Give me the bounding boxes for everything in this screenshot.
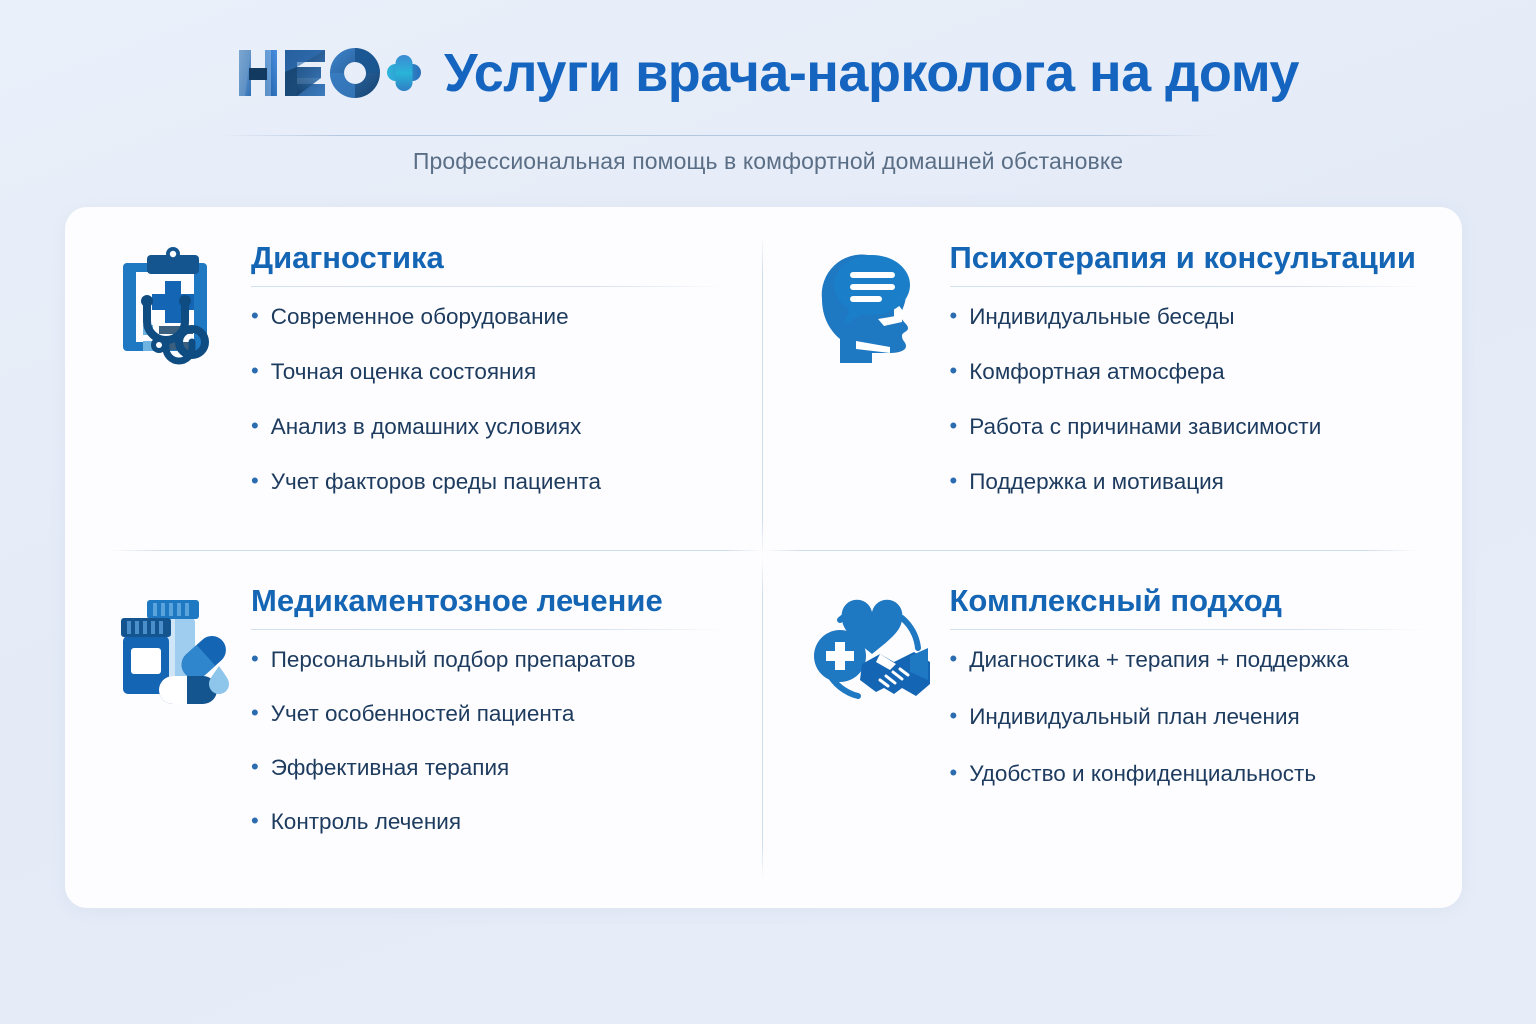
card-bullet-list: •Современное оборудование •Точная оценка… <box>251 303 730 497</box>
card-title-divider <box>251 286 730 287</box>
list-item: •Диагностика + терапия + поддержка <box>950 646 1429 674</box>
page-subtitle: Профессиональная помощь в комфортной дом… <box>0 148 1536 175</box>
list-item: •Учет особенностей пациента <box>251 700 730 728</box>
bullet-dot-icon: • <box>251 305 259 327</box>
card-title-divider <box>251 629 730 630</box>
card-body: Медикаментозное лечение •Персональный по… <box>251 580 730 863</box>
list-item-label: Диагностика + терапия + поддержка <box>969 646 1349 674</box>
card-title: Диагностика <box>251 241 730 275</box>
page-title: Услуги врача-нарколога на дому <box>444 46 1299 100</box>
card-bullet-list: •Диагностика + терапия + поддержка •Инди… <box>950 646 1429 788</box>
list-item: •Комфортная атмосфера <box>950 358 1429 386</box>
title-divider <box>218 135 1218 136</box>
list-item: •Анализ в домашних условиях <box>251 413 730 441</box>
bullet-dot-icon: • <box>251 702 259 724</box>
list-item-label: Анализ в домашних условиях <box>271 413 582 441</box>
service-card-medication[interactable]: Медикаментозное лечение •Персональный по… <box>65 558 764 909</box>
head-speech-bubble-icon <box>806 241 938 373</box>
card-body: Психотерапия и консультации •Индивидуаль… <box>950 237 1429 524</box>
list-item-label: Удобство и конфиденциальность <box>969 760 1316 788</box>
services-grid: Диагностика •Современное оборудование •Т… <box>65 207 1462 908</box>
list-item-label: Работа с причинами зависимости <box>969 413 1321 441</box>
card-body: Диагностика •Современное оборудование •Т… <box>251 237 730 524</box>
list-item-label: Учет особенностей пациента <box>271 700 575 728</box>
bullet-dot-icon: • <box>950 415 958 437</box>
service-card-psychotherapy[interactable]: Психотерапия и консультации •Индивидуаль… <box>764 207 1463 558</box>
card-body: Комплексный подход •Диагностика + терапи… <box>950 580 1429 817</box>
list-item: •Индивидуальные беседы <box>950 303 1429 331</box>
list-item: •Эффективная терапия <box>251 754 730 782</box>
pills-bottles-icon <box>107 584 239 716</box>
list-item-label: Современное оборудование <box>271 303 569 331</box>
list-item-label: Учет факторов среды пациента <box>271 468 601 496</box>
list-item-label: Точная оценка состояния <box>271 358 537 386</box>
list-item-label: Индивидуальный план лечения <box>969 703 1300 731</box>
list-item: •Удобство и конфиденциальность <box>950 760 1429 788</box>
bullet-dot-icon: • <box>950 705 958 727</box>
bullet-dot-icon: • <box>251 360 259 382</box>
bullet-dot-icon: • <box>251 648 259 670</box>
bullet-dot-icon: • <box>950 305 958 327</box>
bullet-dot-icon: • <box>950 648 958 670</box>
page-header: Услуги врача-нарколога на дому Профессио… <box>0 0 1536 200</box>
list-item-label: Индивидуальные беседы <box>969 303 1234 331</box>
heart-handshake-icon <box>806 584 938 716</box>
list-item: •Точная оценка состояния <box>251 358 730 386</box>
list-item: •Работа с причинами зависимости <box>950 413 1429 441</box>
list-item: •Индивидуальный план лечения <box>950 703 1429 731</box>
bullet-dot-icon: • <box>251 470 259 492</box>
list-item: •Поддержка и мотивация <box>950 468 1429 496</box>
list-item: •Контроль лечения <box>251 808 730 836</box>
list-item: •Современное оборудование <box>251 303 730 331</box>
card-title: Комплексный подход <box>950 584 1429 618</box>
list-item-label: Поддержка и мотивация <box>969 468 1224 496</box>
list-item: •Персональный подбор препаратов <box>251 646 730 674</box>
card-bullet-list: •Индивидуальные беседы •Комфортная атмос… <box>950 303 1429 497</box>
bullet-dot-icon: • <box>251 810 259 832</box>
card-title-divider <box>950 629 1429 630</box>
card-bullet-list: •Персональный подбор препаратов •Учет ос… <box>251 646 730 837</box>
services-panel: Диагностика •Современное оборудование •Т… <box>65 207 1462 908</box>
service-card-diagnostics[interactable]: Диагностика •Современное оборудование •Т… <box>65 207 764 558</box>
card-title-divider <box>950 286 1429 287</box>
list-item: •Учет факторов среды пациента <box>251 468 730 496</box>
card-title: Психотерапия и консультации <box>950 241 1429 275</box>
bullet-dot-icon: • <box>950 762 958 784</box>
bullet-dot-icon: • <box>950 360 958 382</box>
brand-row: Услуги врача-нарколога на дому <box>0 42 1536 104</box>
list-item-label: Комфортная атмосфера <box>969 358 1224 386</box>
list-item-label: Персональный подбор препаратов <box>271 646 636 674</box>
list-item-label: Эффективная терапия <box>271 754 510 782</box>
list-item-label: Контроль лечения <box>271 808 461 836</box>
bullet-dot-icon: • <box>251 415 259 437</box>
neo-plus-logo-icon <box>237 42 422 104</box>
bullet-dot-icon: • <box>950 470 958 492</box>
service-card-comprehensive[interactable]: Комплексный подход •Диагностика + терапи… <box>764 558 1463 909</box>
bullet-dot-icon: • <box>251 756 259 778</box>
card-title: Медикаментозное лечение <box>251 584 730 618</box>
clipboard-stethoscope-icon <box>107 241 239 373</box>
